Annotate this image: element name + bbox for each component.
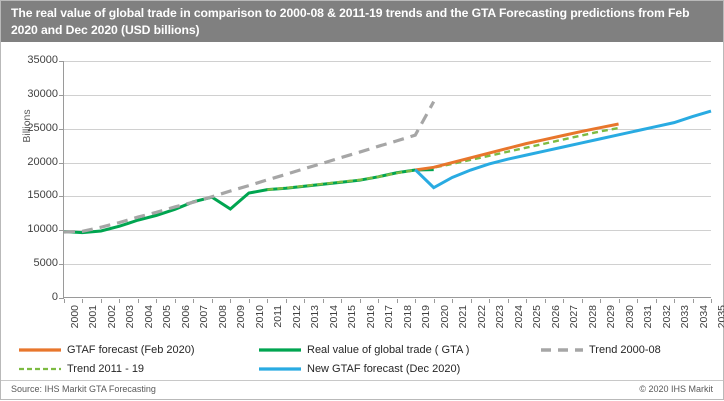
legend-swatch-icon: [541, 344, 583, 356]
x-tick-mark: [286, 299, 287, 303]
x-tick-label: 2016: [365, 305, 377, 328]
x-tick-mark: [582, 299, 583, 303]
x-tick-label: 2035: [716, 305, 724, 328]
legend-item[interactable]: New GTAF forecast (Dec 2020): [259, 361, 460, 377]
legend-label: Trend 2011 - 19: [67, 363, 144, 375]
chart-container: The real value of global trade in compar…: [0, 0, 724, 400]
x-tick-label: 2034: [698, 305, 710, 328]
x-tick-mark: [304, 299, 305, 303]
x-tick-label: 2011: [272, 305, 284, 328]
x-tick-mark: [434, 299, 435, 303]
x-tick-mark: [526, 299, 527, 303]
x-tick-mark: [212, 299, 213, 303]
legend-item[interactable]: Trend 2000-08: [541, 342, 661, 358]
x-tick-label: 2032: [661, 305, 673, 328]
x-tick-mark: [175, 299, 176, 303]
x-tick-label: 2000: [69, 305, 81, 328]
y-tick-mark: [59, 196, 64, 197]
x-tick-mark: [693, 299, 694, 303]
y-tick-label: 30000: [0, 88, 58, 100]
x-tick-mark: [563, 299, 564, 303]
x-tick-mark: [471, 299, 472, 303]
x-tick-mark: [508, 299, 509, 303]
chart-legend: GTAF forecast (Feb 2020)Real value of gl…: [1, 342, 723, 380]
x-tick-mark: [138, 299, 139, 303]
plot-area: [64, 61, 711, 298]
chart-plot-region: Billions 0500010000150002000025000300003…: [1, 42, 723, 342]
y-tick-label: 10000: [0, 223, 58, 235]
x-tick-mark: [600, 299, 601, 303]
x-tick-label: 2003: [124, 305, 136, 328]
copyright-text: © 2020 IHS Markit: [639, 384, 713, 394]
series-line: [64, 102, 434, 232]
x-tick-label: 2028: [587, 305, 599, 328]
x-tick-label: 2024: [513, 305, 525, 328]
source-text: Source: IHS Markit GTA Forecasting: [11, 384, 156, 394]
x-tick-label: 2027: [568, 305, 580, 328]
chart-title-bar: The real value of global trade in compar…: [1, 1, 723, 42]
legend-item[interactable]: Real value of global trade ( GTA ): [259, 342, 469, 358]
x-tick-mark: [193, 299, 194, 303]
x-tick-mark: [674, 299, 675, 303]
legend-swatch-icon: [259, 344, 301, 356]
x-tick-label: 2013: [309, 305, 321, 328]
legend-label: GTAF forecast (Feb 2020): [67, 344, 195, 356]
x-tick-mark: [360, 299, 361, 303]
x-tick-mark: [119, 299, 120, 303]
x-tick-label: 2018: [402, 305, 414, 328]
x-tick-mark: [452, 299, 453, 303]
x-tick-label: 2010: [254, 305, 266, 328]
legend-label: New GTAF forecast (Dec 2020): [307, 363, 460, 375]
x-tick-mark: [249, 299, 250, 303]
x-tick-mark: [341, 299, 342, 303]
x-tick-mark: [545, 299, 546, 303]
x-tick-label: 2014: [328, 305, 340, 328]
x-tick-label: 2007: [198, 305, 210, 328]
y-tick-mark: [59, 264, 64, 265]
y-tick-mark: [59, 230, 64, 231]
y-tick-label: 20000: [0, 156, 58, 168]
y-tick-label: 25000: [0, 122, 58, 134]
x-tick-mark: [82, 299, 83, 303]
y-tick-mark: [59, 163, 64, 164]
x-tick-label: 2033: [679, 305, 691, 328]
x-tick-mark: [489, 299, 490, 303]
legend-label: Real value of global trade ( GTA ): [307, 344, 469, 356]
x-tick-mark: [397, 299, 398, 303]
series-line: [415, 124, 618, 170]
x-tick-mark: [378, 299, 379, 303]
x-tick-label: 2015: [346, 305, 358, 328]
x-tick-mark: [101, 299, 102, 303]
x-tick-label: 2020: [439, 305, 451, 328]
y-tick-mark: [59, 95, 64, 96]
page-title: The real value of global trade in compar…: [11, 5, 713, 38]
x-tick-label: 2030: [624, 305, 636, 328]
series-lines: [64, 61, 711, 298]
x-tick-mark: [619, 299, 620, 303]
x-tick-label: 2022: [476, 305, 488, 328]
x-tick-mark: [156, 299, 157, 303]
x-tick-mark: [230, 299, 231, 303]
x-tick-label: 2021: [457, 305, 469, 328]
x-tick-label: 2004: [143, 305, 155, 328]
legend-item[interactable]: Trend 2011 - 19: [19, 361, 144, 377]
x-tick-label: 2002: [106, 305, 118, 328]
y-tick-label: 5000: [0, 257, 58, 269]
x-tick-mark: [267, 299, 268, 303]
legend-item[interactable]: GTAF forecast (Feb 2020): [19, 342, 195, 358]
x-tick-label: 2008: [217, 305, 229, 328]
x-tick-label: 2012: [291, 305, 303, 328]
x-tick-label: 2009: [235, 305, 247, 328]
x-tick-mark: [711, 299, 712, 303]
x-tick-mark: [64, 299, 65, 303]
series-line: [415, 111, 711, 188]
y-tick-label: 0: [0, 291, 58, 303]
x-tick-label: 2026: [550, 305, 562, 328]
legend-swatch-icon: [19, 344, 61, 356]
series-line: [267, 128, 618, 190]
x-tick-label: 2023: [494, 305, 506, 328]
y-tick-mark: [59, 129, 64, 130]
legend-swatch-icon: [19, 363, 61, 375]
x-tick-label: 2017: [383, 305, 395, 328]
chart-footer: Source: IHS Markit GTA Forecasting © 202…: [1, 380, 723, 401]
x-tick-label: 2025: [531, 305, 543, 328]
x-tick-label: 2029: [605, 305, 617, 328]
x-tick-label: 2005: [161, 305, 173, 328]
y-tick-mark: [59, 61, 64, 62]
x-tick-label: 2001: [87, 305, 99, 328]
x-tick-label: 2006: [180, 305, 192, 328]
x-tick-label: 2031: [642, 305, 654, 328]
x-tick-mark: [323, 299, 324, 303]
x-tick-mark: [656, 299, 657, 303]
x-tick-mark: [415, 299, 416, 303]
y-tick-label: 35000: [0, 54, 58, 66]
x-tick-mark: [637, 299, 638, 303]
legend-swatch-icon: [259, 363, 301, 375]
legend-label: Trend 2000-08: [589, 344, 661, 356]
x-tick-label: 2019: [420, 305, 432, 328]
y-tick-label: 15000: [0, 189, 58, 201]
